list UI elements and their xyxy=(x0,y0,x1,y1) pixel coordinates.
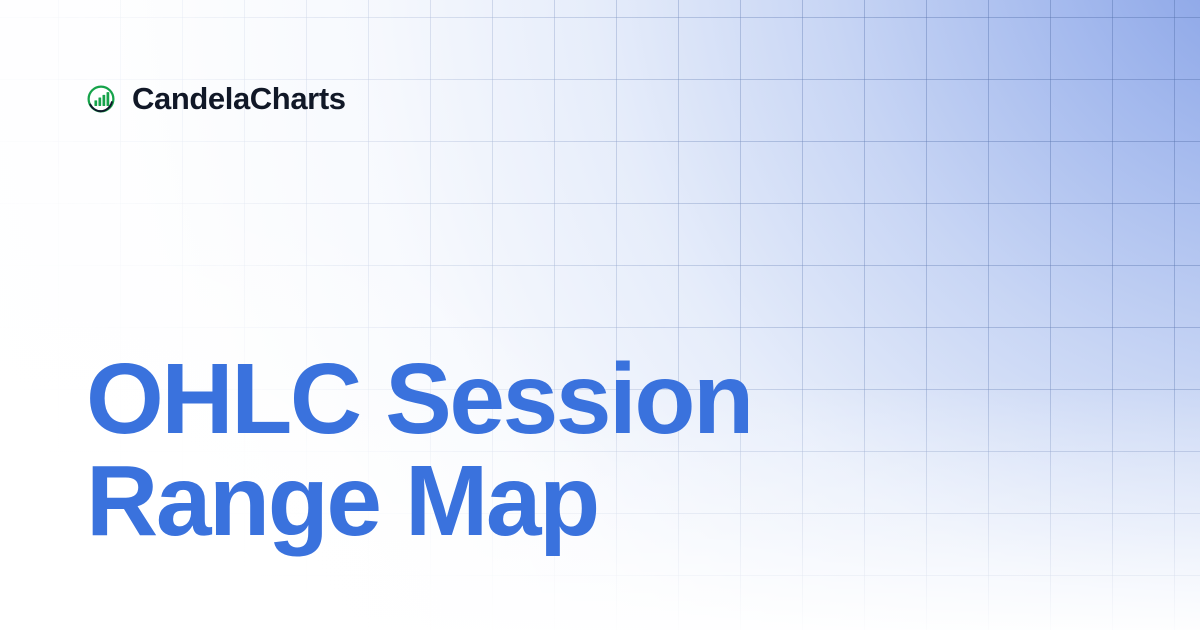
og-preview-card: CandelaCharts OHLC Session Range Map xyxy=(0,0,1200,630)
bar-chart-circle-icon xyxy=(86,84,116,114)
card-content: CandelaCharts OHLC Session Range Map xyxy=(0,0,1200,630)
brand-lockup: CandelaCharts xyxy=(86,83,346,114)
page-title: OHLC Session Range Map xyxy=(86,348,1046,552)
brand-name-label: CandelaCharts xyxy=(132,83,346,114)
